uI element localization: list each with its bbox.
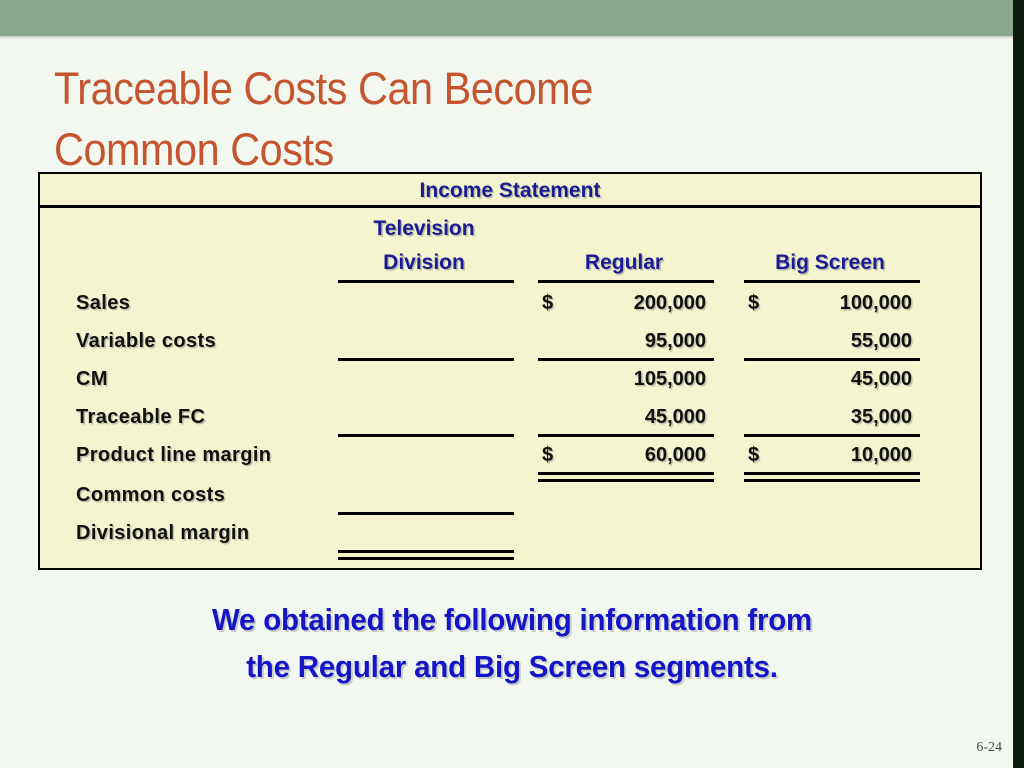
cell-regular: 95,000 — [534, 322, 714, 360]
rule-header-tv — [338, 280, 514, 283]
table-row: Traceable FC 45,000 35,000 — [40, 398, 980, 436]
column-header-television: Television — [334, 212, 514, 246]
top-banner — [0, 0, 1013, 36]
cell-big-screen: 35,000 — [740, 398, 920, 436]
currency-symbol: $ — [748, 284, 759, 322]
page-title: Traceable Costs Can Become Common Costs — [54, 58, 753, 180]
row-label: Common costs — [76, 476, 225, 514]
banner-shadow — [0, 36, 1013, 39]
cell-value: 10,000 — [740, 436, 920, 474]
cell-big-screen: 55,000 — [740, 322, 920, 360]
slide-canvas: Traceable Costs Can Become Common Costs … — [0, 0, 1024, 768]
cell-value: 45,000 — [534, 398, 714, 436]
cell-regular: $ 200,000 — [534, 284, 714, 322]
table-row: Product line margin $ 60,000 $ 10,000 — [40, 436, 980, 474]
row-label: Variable costs — [76, 322, 216, 360]
cell-value: 95,000 — [534, 322, 714, 360]
row-label: CM — [76, 360, 108, 398]
cell-big-screen: $ 10,000 — [740, 436, 920, 474]
currency-symbol: $ — [542, 284, 553, 322]
cell-value: 35,000 — [740, 398, 920, 436]
cell-regular: 105,000 — [534, 360, 714, 398]
table-row: Sales $ 200,000 $ 100,000 — [40, 284, 980, 322]
cell-value: 105,000 — [534, 360, 714, 398]
row-label: Sales — [76, 284, 130, 322]
cell-value: 55,000 — [740, 322, 920, 360]
column-header-division: Division — [334, 246, 514, 280]
table-row: Divisional margin — [40, 514, 980, 552]
caption-text: We obtained the following information fr… — [94, 596, 930, 690]
right-edge-strip — [1013, 0, 1024, 768]
table-row: Common costs — [40, 476, 980, 514]
cell-regular: 45,000 — [534, 398, 714, 436]
income-statement-table: Income Statement Television Division Reg… — [38, 172, 982, 570]
slide-number: 6-24 — [976, 740, 1002, 756]
row-label: Traceable FC — [76, 398, 205, 436]
cell-value: 200,000 — [534, 284, 714, 322]
cell-regular: $ 60,000 — [534, 436, 714, 474]
rule-header-big-screen — [744, 280, 920, 283]
rule-header-regular — [538, 280, 714, 283]
table-row: Variable costs 95,000 55,000 — [40, 322, 980, 360]
currency-symbol: $ — [748, 436, 759, 474]
row-label: Product line margin — [76, 436, 271, 474]
cell-value: 60,000 — [534, 436, 714, 474]
row-label: Divisional margin — [76, 514, 250, 552]
column-header-big-screen: Big Screen — [740, 246, 920, 280]
table-row: CM 105,000 45,000 — [40, 360, 980, 398]
cell-value: 45,000 — [740, 360, 920, 398]
cell-big-screen: $ 100,000 — [740, 284, 920, 322]
rule-double-tv — [338, 550, 514, 560]
cell-value: 100,000 — [740, 284, 920, 322]
currency-symbol: $ — [542, 436, 553, 474]
statement-heading: Income Statement — [40, 174, 980, 208]
cell-big-screen: 45,000 — [740, 360, 920, 398]
column-header-regular: Regular — [534, 246, 714, 280]
